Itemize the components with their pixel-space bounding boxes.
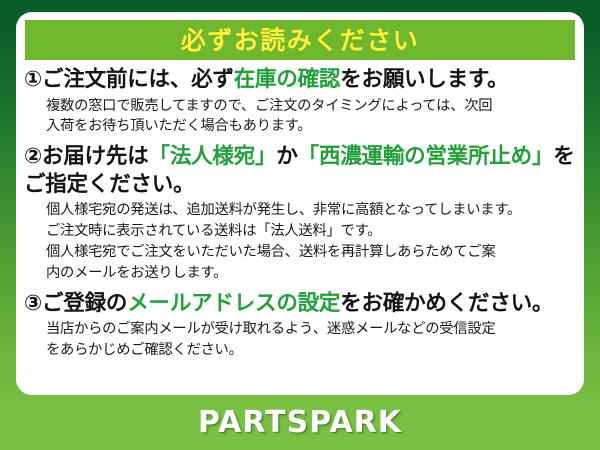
- footer-band: PARTSPARK: [0, 395, 600, 450]
- notice-item-heading: ③ご登録のメールアドレスの設定をお確かめください。: [22, 290, 578, 318]
- description-line: ご注文時に表示されている送料は「法人送料」です。: [46, 221, 578, 242]
- heading-text: をお願いします。: [340, 67, 508, 92]
- notice-item-marker: ①: [24, 67, 42, 92]
- notice-card: 必ずお読みください ①ご注文前には、必ず在庫の確認をお願いします。複数の窓口で販…: [16, 12, 584, 395]
- description-line: 個人様宅宛の発送は、追加送料が発生し、非常に高額となってしまいます。: [46, 200, 578, 221]
- notice-item: ③ご登録のメールアドレスの設定をお確かめください。当店からのご案内メールが受け取…: [22, 290, 578, 361]
- notice-item: ②お届け先は「法人様宛」か「西濃運輸の営業所止め」をご指定ください。個人様宅宛の…: [22, 143, 578, 283]
- banner-title: 必ずお読みください: [181, 28, 420, 53]
- description-line: 当店からのご案内メールが受け取れるよう、迷惑メールなどの受信設定: [46, 319, 578, 340]
- description-line: 内のメールをお送りします。: [46, 263, 578, 284]
- heading-highlight: 「法人様宛」: [149, 144, 277, 169]
- heading-highlight: 在庫の確認: [234, 67, 341, 92]
- brand-wordmark: PARTSPARK: [198, 408, 402, 438]
- description-line: 入荷をお待ち頂いただく場合もあります。: [46, 116, 578, 137]
- heading-text: をお確かめください。: [340, 291, 553, 316]
- heading-text: か: [276, 144, 297, 169]
- heading-text: ご注文前には、必ず: [42, 67, 234, 92]
- notice-list: ①ご注文前には、必ず在庫の確認をお願いします。複数の窓口で販売してますので、ご注…: [16, 66, 584, 367]
- description-line: 複数の窓口で販売してますので、ご注文のタイミングによっては、次回: [46, 96, 578, 117]
- notice-item-description: 個人様宅宛の発送は、追加送料が発生し、非常に高額となってしまいます。ご注文時に表…: [22, 198, 578, 283]
- heading-highlight: 「西濃運輸の営業所止め」: [298, 144, 554, 169]
- heading-text: ご登録の: [42, 291, 127, 316]
- notice-item: ①ご注文前には、必ず在庫の確認をお願いします。複数の窓口で販売してますので、ご注…: [22, 66, 578, 137]
- notice-item-heading: ①ご注文前には、必ず在庫の確認をお願いします。: [22, 66, 578, 94]
- description-line: 個人様宅宛でご注文をいただいた場合、送料を再計算しあらためてご案: [46, 242, 578, 263]
- heading-text: お届け先は: [42, 144, 149, 169]
- description-line: をあらかじめご確認ください。: [46, 340, 578, 361]
- title-bar: 必ずお読みください: [25, 20, 575, 60]
- notice-item-heading: ②お届け先は「法人様宛」か「西濃運輸の営業所止め」をご指定ください。: [22, 143, 578, 198]
- notice-item-description: 当店からのご案内メールが受け取れるよう、迷惑メールなどの受信設定をあらかじめご確…: [22, 317, 578, 361]
- heading-highlight: メールアドレスの設定: [127, 291, 340, 316]
- notice-banner: 必ずお読みください ①ご注文前には、必ず在庫の確認をお願いします。複数の窓口で販…: [0, 0, 600, 450]
- notice-item-marker: ②: [24, 144, 42, 169]
- notice-item-description: 複数の窓口で販売してますので、ご注文のタイミングによっては、次回入荷をお待ち頂い…: [22, 94, 578, 138]
- notice-item-marker: ③: [24, 291, 42, 316]
